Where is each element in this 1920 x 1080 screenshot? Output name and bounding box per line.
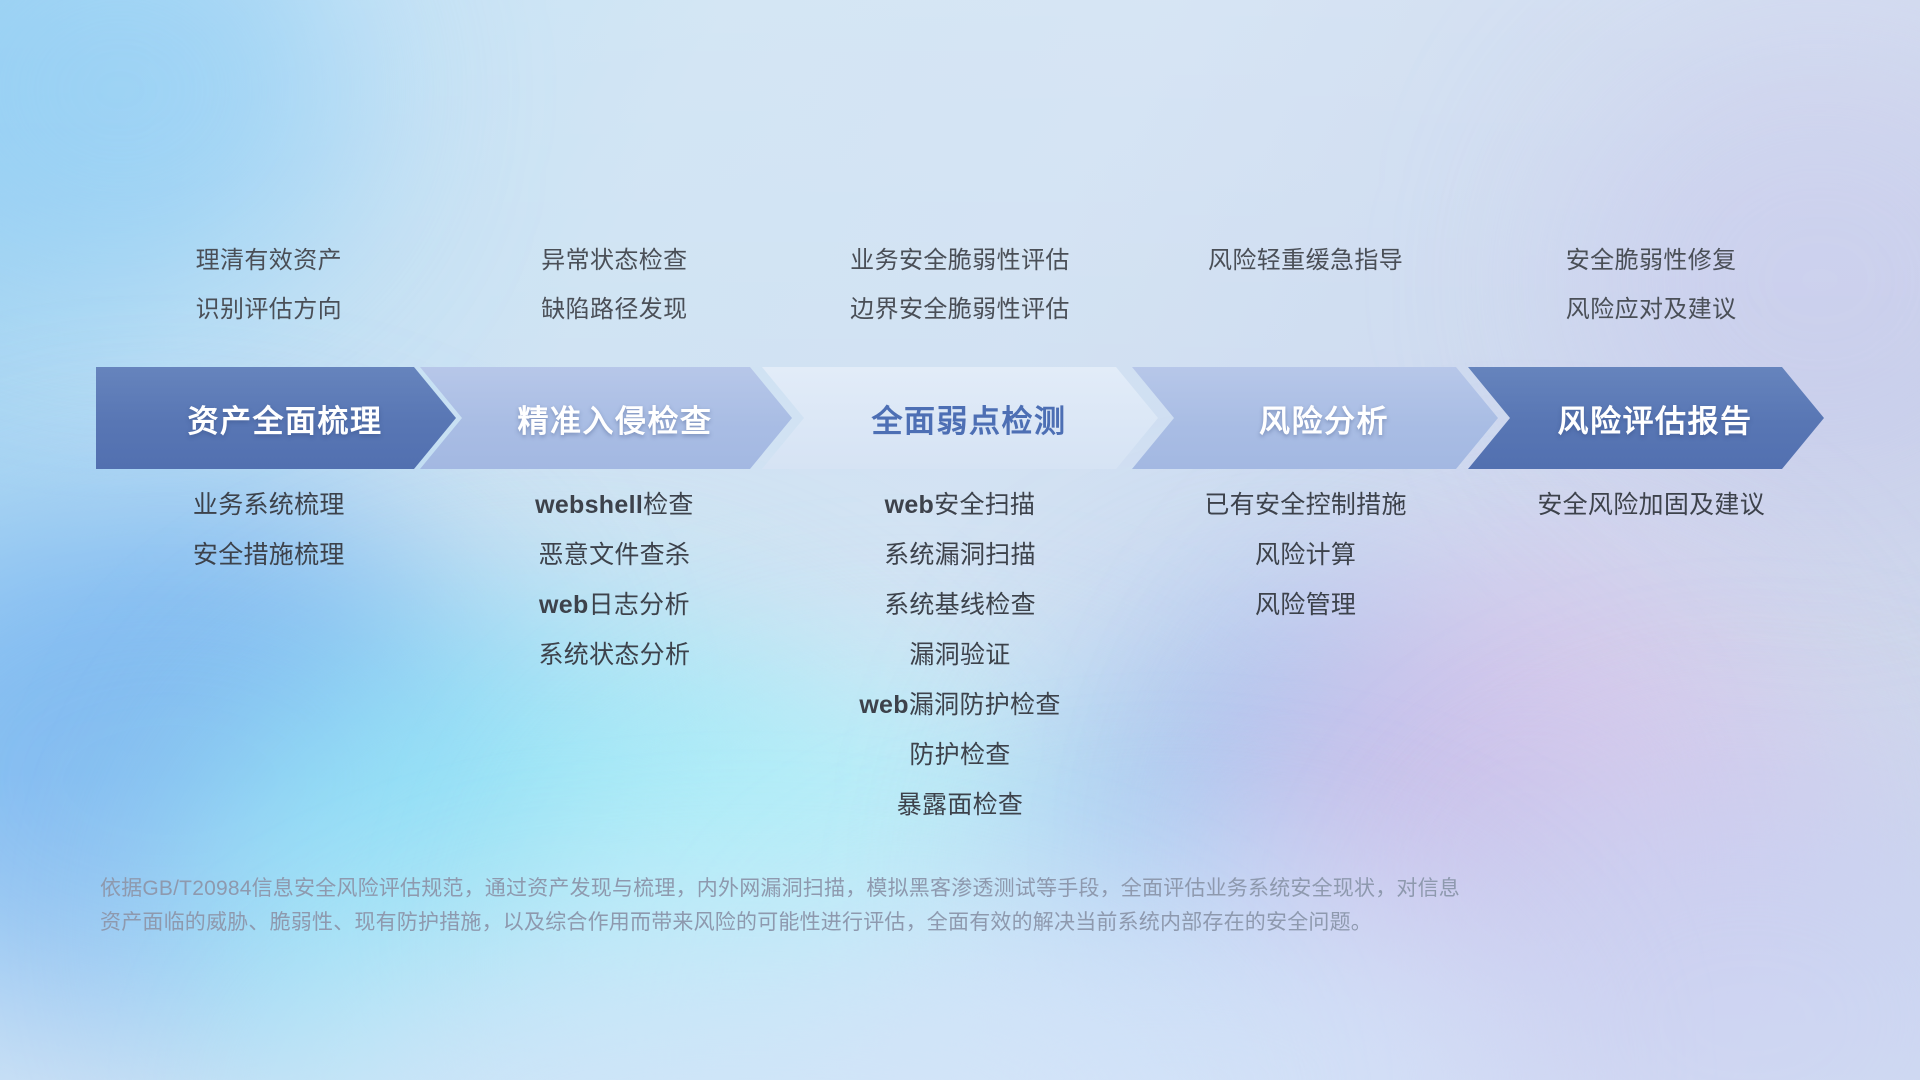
item-text: 漏洞防护检查 <box>909 691 1061 719</box>
item-text: 安全扫描 <box>934 491 1035 519</box>
caption: 识别评估方向 <box>196 285 342 334</box>
item-text: 已有安全控制措施 <box>1204 491 1406 519</box>
list-item: 风险计算 <box>1255 530 1356 580</box>
item-text: 检查 <box>643 491 694 519</box>
item-text: 风险管理 <box>1255 591 1356 619</box>
list-item: 安全风险加固及建议 <box>1537 480 1765 530</box>
stage-items-row: 业务系统梳理 安全措施梳理 webshell检查 恶意文件查杀 web日志分析 … <box>96 480 1824 830</box>
stage-arrow-intrusion-inspection[interactable]: 精准入侵检查 <box>420 367 792 469</box>
item-bold: web <box>885 491 935 519</box>
list-item: web漏洞防护检查 <box>859 680 1060 730</box>
stage-arrow-asset-inventory[interactable]: 资产全面梳理 <box>96 367 456 469</box>
list-item: 暴露面检查 <box>897 780 1024 830</box>
item-text: 风险计算 <box>1255 541 1356 569</box>
stage-arrow-label: 风险分析 <box>1132 396 1498 441</box>
item-text: 安全措施梳理 <box>193 541 345 569</box>
list-item: 已有安全控制措施 <box>1204 480 1406 530</box>
stage-arrow-risk-analysis[interactable]: 风险分析 <box>1132 367 1498 469</box>
top-captions-risk-report: 安全脆弱性修复 风险应对及建议 <box>1478 236 1824 334</box>
footer-line-2: 资产面临的威胁、脆弱性、现有防护措施，以及综合作用而带来风险的可能性进行评估，全… <box>100 906 1800 940</box>
item-text: 系统基线检查 <box>884 591 1036 619</box>
list-item: 漏洞验证 <box>909 630 1010 680</box>
top-captions-risk-analysis: 风险轻重缓急指导 <box>1133 236 1479 334</box>
top-captions-weakness-detection: 业务安全脆弱性评估 边界安全脆弱性评估 <box>787 236 1133 334</box>
stage-arrow-label: 精准入侵检查 <box>420 396 792 441</box>
item-bold: web <box>859 691 909 719</box>
caption: 异常状态检查 <box>541 236 687 285</box>
footer-line-1: 依据GB/T20984信息安全风险评估规范，通过资产发现与梳理，内外网漏洞扫描，… <box>100 872 1800 906</box>
caption: 边界安全脆弱性评估 <box>850 285 1070 334</box>
stage-arrow-label: 全面弱点检测 <box>762 396 1158 441</box>
list-item: 业务系统梳理 <box>193 480 345 530</box>
stage-arrow-weakness-detection[interactable]: 全面弱点检测 <box>762 367 1158 469</box>
caption: 缺陷路径发现 <box>541 285 687 334</box>
stage-items-asset-inventory: 业务系统梳理 安全措施梳理 <box>96 480 442 580</box>
stage-arrow-label: 资产全面梳理 <box>96 396 456 441</box>
list-item: web日志分析 <box>539 580 690 630</box>
list-item: 风险管理 <box>1255 580 1356 630</box>
list-item: 安全措施梳理 <box>193 530 345 580</box>
item-text: 恶意文件查杀 <box>538 541 690 569</box>
process-diagram: 理清有效资产 识别评估方向 异常状态检查 缺陷路径发现 业务安全脆弱性评估 边界… <box>0 0 1920 1080</box>
list-item: 系统漏洞扫描 <box>884 530 1036 580</box>
list-item: 系统状态分析 <box>538 630 690 680</box>
list-item: 防护检查 <box>909 730 1010 780</box>
stage-arrow-risk-report[interactable]: 风险评估报告 <box>1468 367 1824 469</box>
item-text: 安全风险加固及建议 <box>1537 491 1765 519</box>
list-item: webshell检查 <box>535 480 694 530</box>
list-item: 系统基线检查 <box>884 580 1036 630</box>
caption: 风险轻重缓急指导 <box>1208 236 1403 285</box>
stage-items-weakness-detection: web安全扫描 系统漏洞扫描 系统基线检查 漏洞验证 web漏洞防护检查 防护检… <box>787 480 1133 830</box>
item-bold: web <box>539 591 589 619</box>
item-bold: webshell <box>535 491 643 519</box>
item-text: 业务系统梳理 <box>193 491 345 519</box>
top-captions-asset-inventory: 理清有效资产 识别评估方向 <box>96 236 442 334</box>
stage-arrow-band: 资产全面梳理 精准入侵检查 全面弱点检测 风险分析 风险评估报告 <box>96 367 1824 469</box>
item-text: 漏洞验证 <box>909 641 1010 669</box>
top-captions-intrusion-inspection: 异常状态检查 缺陷路径发现 <box>442 236 788 334</box>
caption: 风险应对及建议 <box>1566 285 1737 334</box>
caption: 安全脆弱性修复 <box>1566 236 1737 285</box>
list-item: web安全扫描 <box>885 480 1036 530</box>
item-text: 暴露面检查 <box>897 791 1024 819</box>
item-text: 系统状态分析 <box>538 641 690 669</box>
stage-items-intrusion-inspection: webshell检查 恶意文件查杀 web日志分析 系统状态分析 <box>442 480 788 680</box>
stage-items-risk-analysis: 已有安全控制措施 风险计算 风险管理 <box>1133 480 1479 630</box>
item-text: 日志分析 <box>589 591 690 619</box>
item-text: 防护检查 <box>909 741 1010 769</box>
footer-description: 依据GB/T20984信息安全风险评估规范，通过资产发现与梳理，内外网漏洞扫描，… <box>100 872 1800 940</box>
caption: 理清有效资产 <box>196 236 342 285</box>
stage-items-risk-report: 安全风险加固及建议 <box>1478 480 1824 530</box>
caption: 业务安全脆弱性评估 <box>850 236 1070 285</box>
list-item: 恶意文件查杀 <box>538 530 690 580</box>
top-captions-row: 理清有效资产 识别评估方向 异常状态检查 缺陷路径发现 业务安全脆弱性评估 边界… <box>96 236 1824 334</box>
item-text: 系统漏洞扫描 <box>884 541 1036 569</box>
stage-arrow-label: 风险评估报告 <box>1468 396 1824 441</box>
